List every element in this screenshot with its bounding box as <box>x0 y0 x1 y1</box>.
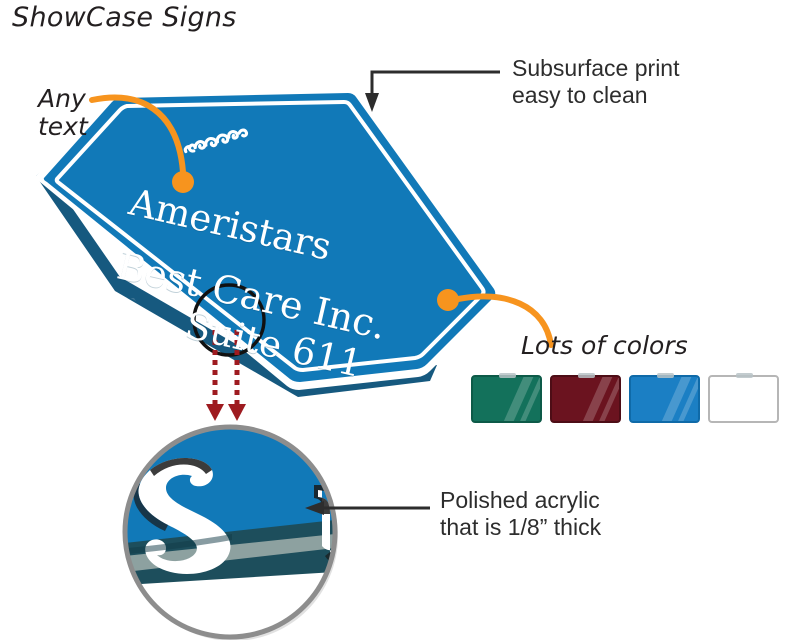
swatch-face <box>708 375 779 423</box>
pointer-subsurface-print <box>365 72 500 112</box>
swatch-standoff-clip-icon <box>499 373 516 378</box>
callout-subsurface-print: Subsurface print easy to clean <box>512 55 679 108</box>
showcase-signs-infographic: ShowCase Signs <box>0 0 800 640</box>
swatch-standoff-clip-icon <box>578 373 595 378</box>
swatch-face <box>629 375 700 423</box>
callout-lots-of-colors: Lots of colors <box>521 332 688 360</box>
color-swatch-green[interactable] <box>471 375 542 423</box>
swatch-standoff-clip-icon <box>736 373 753 378</box>
pointer-polished-acrylic <box>305 501 430 515</box>
color-swatch-row <box>471 375 779 423</box>
color-swatch-white[interactable] <box>708 375 779 423</box>
illustration-canvas <box>0 0 800 640</box>
swatch-standoff-clip-icon <box>657 373 674 378</box>
callout-polished-acrylic: Polished acrylic that is 1/8” thick <box>440 487 601 540</box>
swatch-face <box>471 375 542 423</box>
color-swatch-maroon[interactable] <box>550 375 621 423</box>
sign-plate <box>36 87 503 390</box>
callout-any-text: Any text <box>38 85 88 141</box>
color-swatch-blue[interactable] <box>629 375 700 423</box>
swatch-face <box>550 375 621 423</box>
magnifier-detail <box>125 427 393 640</box>
